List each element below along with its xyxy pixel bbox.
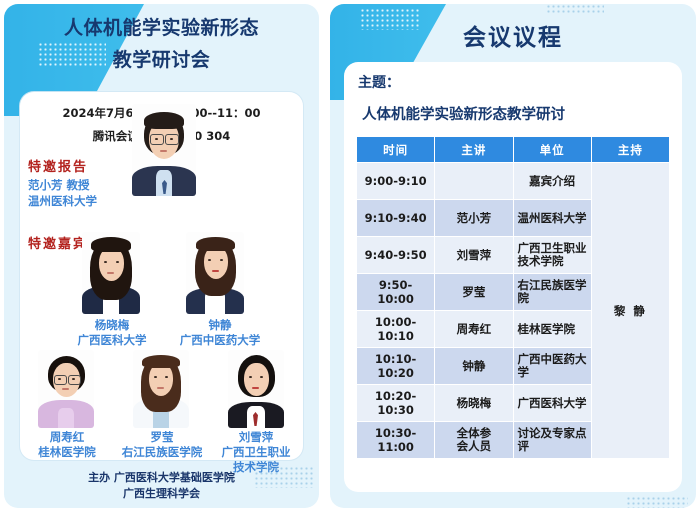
invited-report-org: 温州医科大学 xyxy=(28,193,97,209)
headshot-liuxueping xyxy=(228,350,284,428)
agenda-row-7-time: 10:30-11:00 xyxy=(357,422,435,459)
agenda-header-row: 时间 主讲 单位 主持 xyxy=(357,137,670,163)
organizer-line1: 主办 广西医科大学基础医学院 xyxy=(4,470,319,486)
invited-guests-label: 特邀嘉宾 xyxy=(28,233,88,252)
agenda-row-2-speaker: 刘雪萍 xyxy=(435,237,513,274)
agenda-row-1-time: 9:10-9:40 xyxy=(357,200,435,237)
guest-3-name: 罗莹 xyxy=(112,430,212,445)
left-title-line2: 教学研讨会 xyxy=(4,44,319,76)
guest-3-org: 右江民族医学院 xyxy=(112,445,212,460)
dot-texture-right-bottom xyxy=(626,496,688,508)
agenda-header-org: 单位 xyxy=(513,137,591,163)
agenda-header-time: 时间 xyxy=(357,137,435,163)
left-poster-card: 人体机能学实验新形态 教学研讨会 2024年7月6日上午 9：00--11：00… xyxy=(4,4,319,508)
right-title: 会议议程 xyxy=(330,18,696,52)
guest-0-name: 杨晓梅 xyxy=(62,318,162,333)
organizer-footer: 主办 广西医科大学基础医学院 广西生理科学会 xyxy=(4,470,319,502)
agenda-row-7-org: 讨论及专家点评 xyxy=(513,422,591,459)
topic-text: 人体机能学实验新形态教学研讨 xyxy=(362,103,565,124)
agenda-row-0: 9:00-9:10 嘉宾介绍 黎 静 xyxy=(357,163,670,200)
agenda-row-4-speaker: 周寿红 xyxy=(435,311,513,348)
agenda-header-speaker: 主讲 xyxy=(435,137,513,163)
agenda-row-6-time: 10:20-10:30 xyxy=(357,385,435,422)
guest-2-org: 桂林医学院 xyxy=(26,445,108,460)
agenda-header-host: 主持 xyxy=(591,137,669,163)
guest-4: 刘雪萍 广西卫生职业 技术学院 xyxy=(212,430,300,475)
agenda-table: 时间 主讲 单位 主持 9:00-9:10 嘉宾介绍 黎 静 9:10-9:40 xyxy=(356,136,670,459)
agenda-row-5-time: 10:10-10:20 xyxy=(357,348,435,385)
agenda-row-5-org: 广西中医药大学 xyxy=(513,348,591,385)
right-agenda-card: 会议议程 主题： 人体机能学实验新形态教学研讨 时间 主讲 单位 主持 9:00… xyxy=(330,4,696,508)
agenda-row-0-org: 嘉宾介绍 xyxy=(513,163,591,200)
agenda-row-6-org: 广西医科大学 xyxy=(513,385,591,422)
agenda-row-2-org: 广西卫生职业 技术学院 xyxy=(513,237,591,274)
guest-2-name: 周寿红 xyxy=(26,430,108,445)
agenda-row-3-speaker: 罗莹 xyxy=(435,274,513,311)
agenda-row-4-org: 桂林医学院 xyxy=(513,311,591,348)
agenda-row-3-org: 右江民族医学院 xyxy=(513,274,591,311)
agenda-row-1-speaker: 范小芳 xyxy=(435,200,513,237)
agenda-row-7-speaker: 全体参 会人员 xyxy=(435,422,513,459)
guest-1-name: 钟静 xyxy=(165,318,275,333)
agenda-row-2-time: 9:40-9:50 xyxy=(357,237,435,274)
guest-3: 罗莹 右江民族医学院 xyxy=(112,430,212,460)
agenda-row-6-speaker: 杨晓梅 xyxy=(435,385,513,422)
headshot-zhongjing xyxy=(186,232,244,314)
guest-0-org: 广西医科大学 xyxy=(62,333,162,348)
invited-report-info: 范小芳 教授 温州医科大学 xyxy=(28,177,97,209)
agenda-row-0-speaker xyxy=(435,163,513,200)
right-white-panel: 主题： 人体机能学实验新形态教学研讨 时间 主讲 单位 主持 9:00-9:10 xyxy=(344,62,682,492)
invited-report-label: 特邀报告 xyxy=(28,156,88,175)
dot-texture-right-header xyxy=(546,4,604,14)
agenda-row-3-time: 9:50-10:00 xyxy=(357,274,435,311)
guest-4-name: 刘雪萍 xyxy=(212,430,300,445)
agenda-row-1-org: 温州医科大学 xyxy=(513,200,591,237)
headshot-zhoushouhong xyxy=(38,350,94,428)
agenda-row-5-speaker: 钟静 xyxy=(435,348,513,385)
left-title: 人体机能学实验新形态 教学研讨会 xyxy=(4,12,319,76)
invited-report-name: 范小芳 教授 xyxy=(28,177,97,193)
headshot-luoying xyxy=(133,350,189,428)
topic-label: 主题： xyxy=(358,72,400,92)
guest-2: 周寿红 桂林医学院 xyxy=(26,430,108,460)
guest-1: 钟静 广西中医药大学 xyxy=(165,318,275,348)
agenda-row-0-time: 9:00-9:10 xyxy=(357,163,435,200)
left-white-panel: 2024年7月6日上午 9：00--11：00 腾讯会议：184 960 304… xyxy=(20,92,303,460)
poster-page: 人体机能学实验新形态 教学研讨会 2024年7月6日上午 9：00--11：00… xyxy=(0,0,700,516)
headshot-fanxiaofang xyxy=(132,104,196,196)
agenda-row-4-time: 10:00-10:10 xyxy=(357,311,435,348)
agenda-host-cell: 黎 静 xyxy=(591,163,669,459)
guest-1-org: 广西中医药大学 xyxy=(165,333,275,348)
organizer-line2: 广西生理科学会 xyxy=(4,486,319,502)
guest-0: 杨晓梅 广西医科大学 xyxy=(62,318,162,348)
left-title-line1: 人体机能学实验新形态 xyxy=(64,17,259,39)
headshot-yangxiaomei xyxy=(82,232,140,314)
